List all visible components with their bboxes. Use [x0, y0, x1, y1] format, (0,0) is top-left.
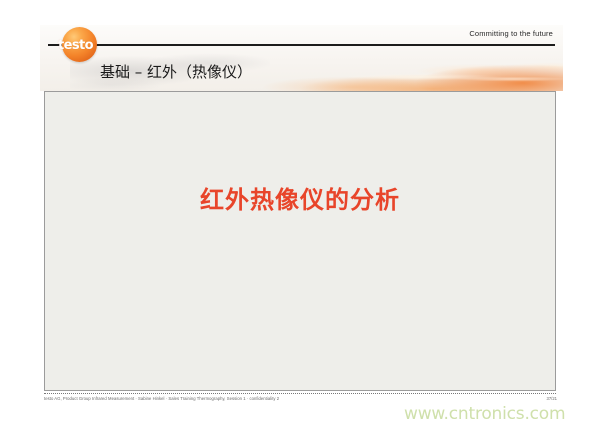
slide-header: Committing to the future testo 基础 – 红外（热…	[40, 25, 563, 91]
site-watermark: www.cntronics.com	[404, 404, 565, 424]
slide-content-area: 红外热像仪的分析	[44, 91, 556, 391]
content-title: 红外热像仪的分析	[45, 180, 555, 215]
presentation-slide: Committing to the future testo 基础 – 红外（热…	[40, 25, 563, 410]
slide-heading: 基础 – 红外（热像仪）	[100, 61, 252, 82]
flame-texture	[223, 49, 563, 91]
footer-divider	[44, 393, 556, 395]
testo-logo-text: testo	[58, 38, 93, 53]
footer-page-number: 37/21	[547, 396, 557, 401]
footer-text: testo AG, Product Group Infrared Measure…	[44, 396, 279, 401]
company-tagline: Committing to the future	[469, 29, 553, 38]
header-divider	[48, 44, 555, 46]
